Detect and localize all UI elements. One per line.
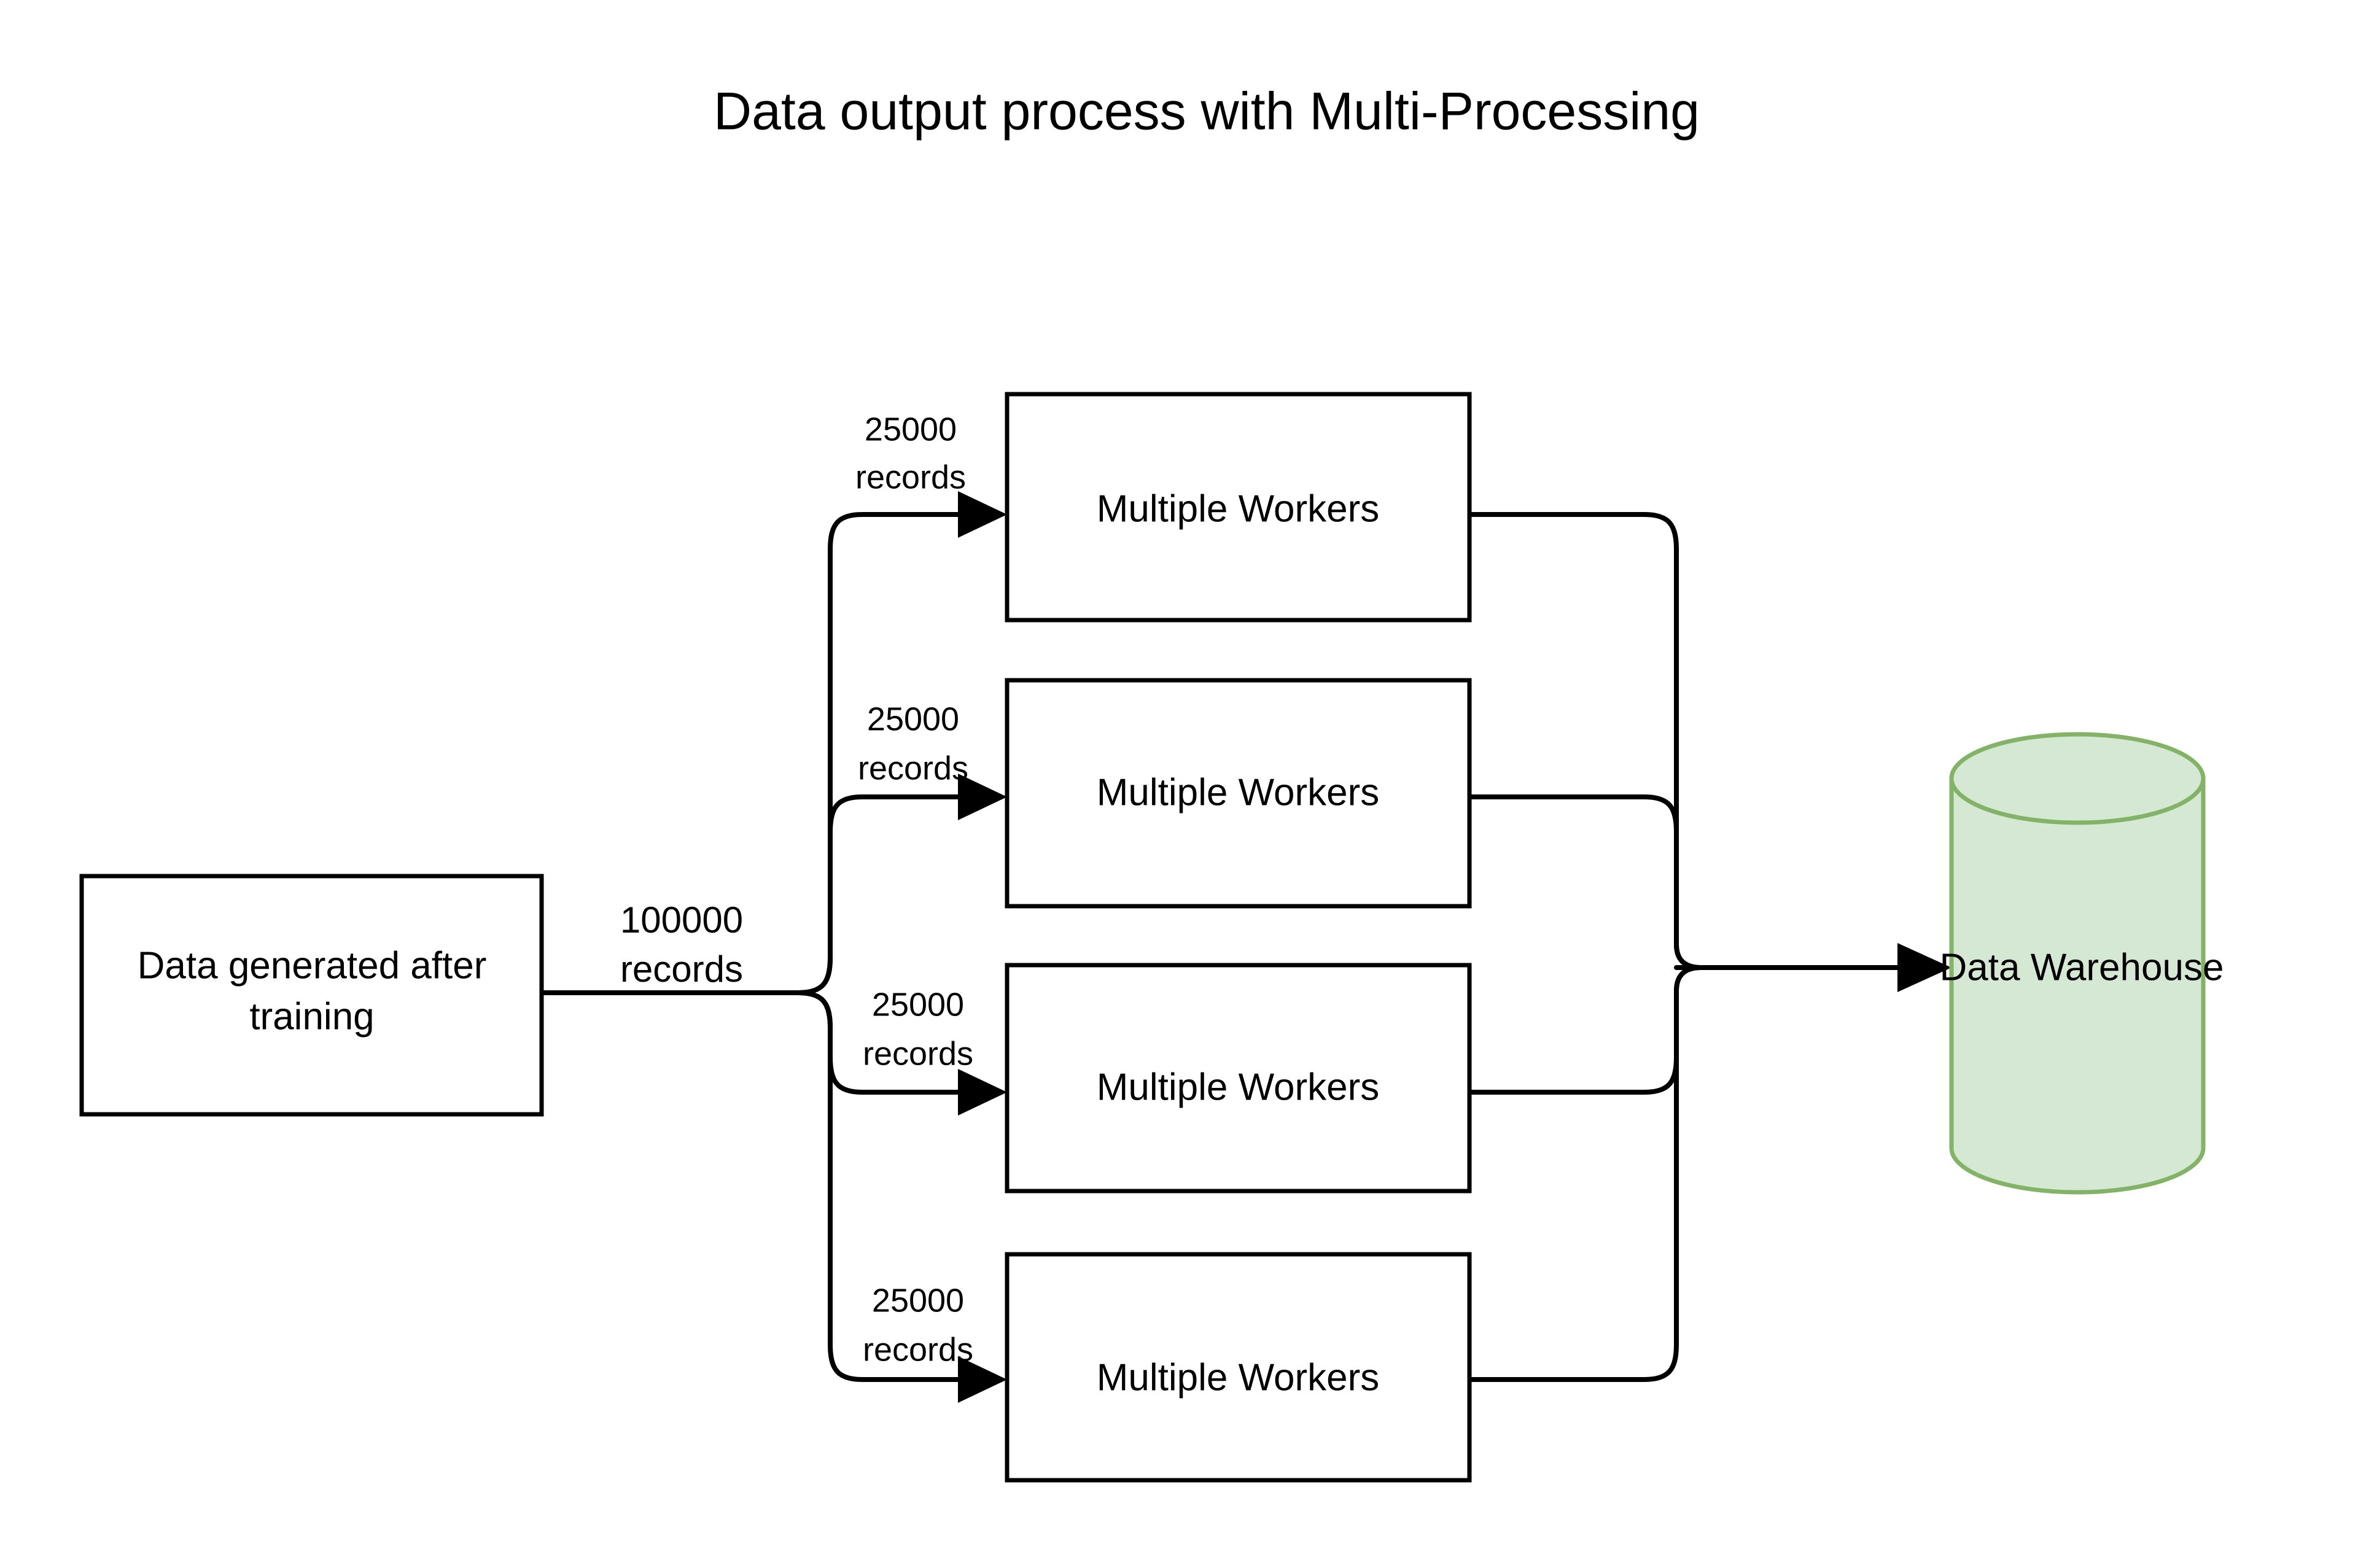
- edge-label-worker-4-line1: 25000: [872, 1282, 964, 1319]
- edge-worker-3-to-merge: [1469, 968, 1701, 1092]
- edge-label-worker-1-line2: records: [855, 459, 966, 495]
- node-warehouse-cylinder[interactable]: Data Warehouse: [1940, 734, 2224, 1192]
- edge-label-worker-4-line2: records: [863, 1331, 973, 1368]
- edge-label-worker-2-line1: 25000: [867, 701, 959, 737]
- node-worker-1-label: Multiple Workers: [1097, 487, 1380, 530]
- node-worker-4-label: Multiple Workers: [1097, 1356, 1380, 1399]
- node-warehouse-label: Data Warehouse: [1940, 946, 2224, 988]
- edge-label-worker-1-line1: 25000: [865, 411, 957, 448]
- node-worker-3-label: Multiple Workers: [1097, 1066, 1380, 1108]
- arrowhead-worker-1: [958, 491, 1007, 538]
- diagram-svg: Data output process with Multi-Processin…: [0, 0, 2358, 1568]
- edge-label-source-line2: records: [620, 949, 743, 990]
- edge-label-worker-3-line2: records: [863, 1035, 973, 1072]
- warehouse-top-ellipse: [1951, 734, 2203, 823]
- diagram-canvas: Data output process with Multi-Processin…: [0, 0, 2358, 1568]
- node-worker-2-label: Multiple Workers: [1097, 771, 1380, 813]
- edge-worker-2-to-merge: [1469, 797, 1701, 968]
- node-source-label-line2: training: [249, 995, 374, 1038]
- edge-worker-4-to-merge: [1469, 968, 1701, 1380]
- page-title: Data output process with Multi-Processin…: [714, 82, 1700, 141]
- node-source-label-line1: Data generated after: [138, 944, 487, 987]
- edge-worker-1-to-merge: [1469, 514, 1701, 968]
- edge-label-source-line1: 100000: [620, 899, 743, 941]
- arrowhead-worker-3: [958, 1069, 1007, 1116]
- edge-label-worker-3-line1: 25000: [872, 986, 964, 1023]
- edge-fork-to-worker-2: [798, 797, 958, 993]
- edge-label-worker-2-line2: records: [858, 750, 968, 786]
